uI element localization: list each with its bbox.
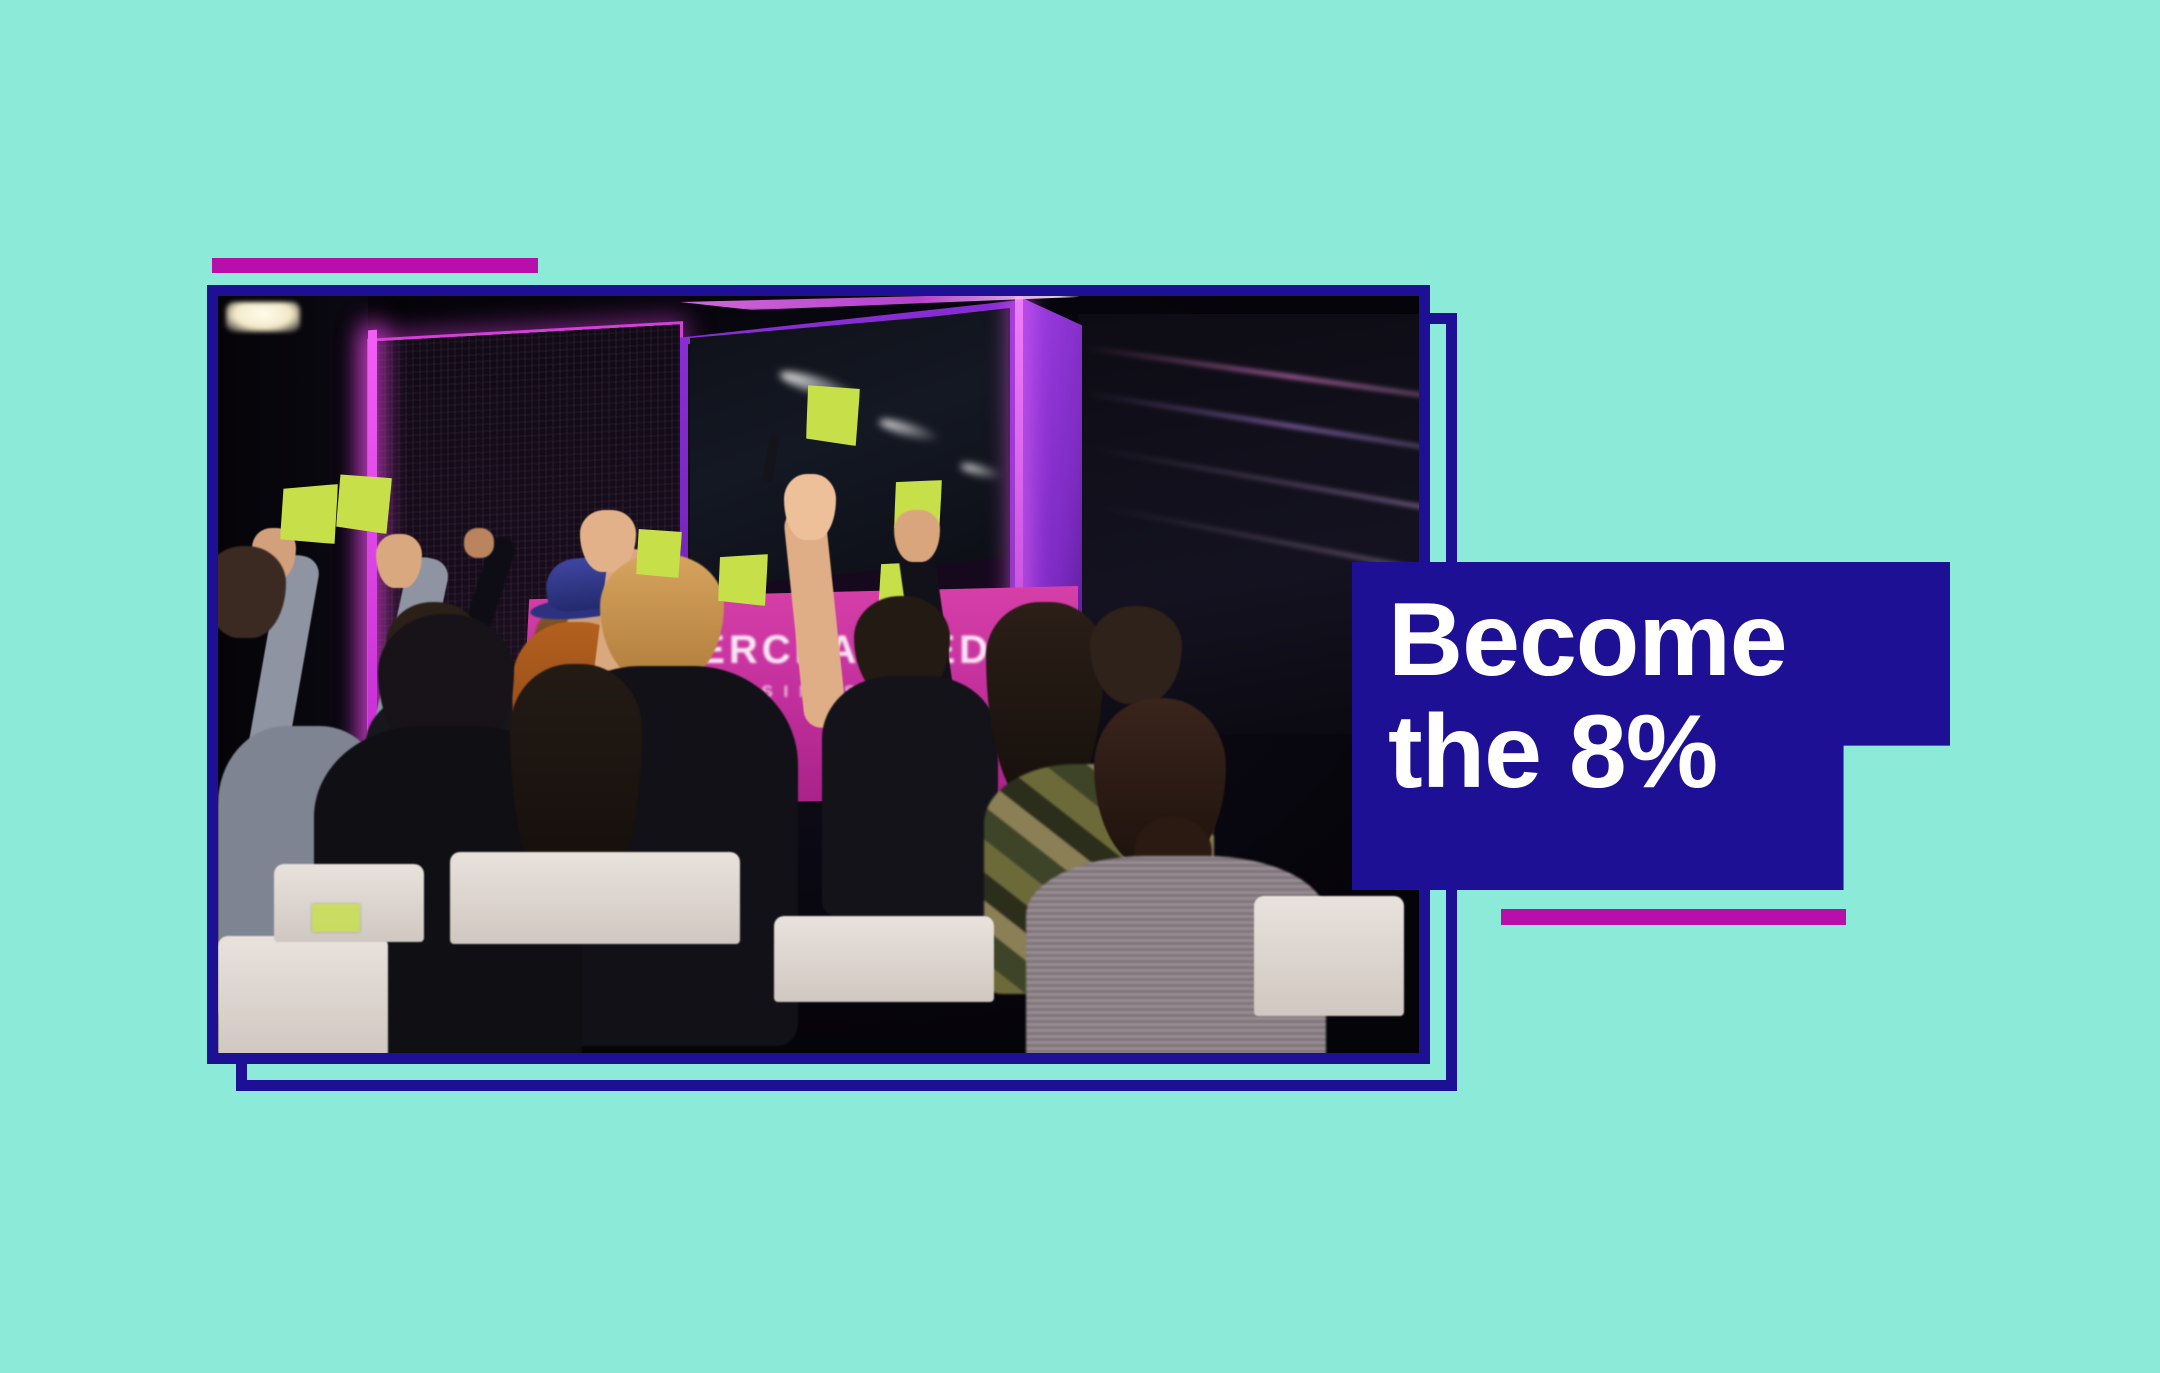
voting-card [280, 484, 338, 544]
audience-hand [894, 510, 940, 562]
voting-card-on-table [312, 904, 360, 932]
voting-card [636, 528, 682, 578]
headline-line-2: the 8% [1388, 696, 1918, 808]
chair [1254, 896, 1404, 1016]
audience-head [1090, 606, 1182, 704]
speaker-fist [464, 528, 494, 558]
headline: Become the 8% [1388, 584, 1918, 809]
poster-canvas: SUPERCHARGED B U S I N E S S [0, 0, 2160, 1373]
headline-line-1: Become [1388, 582, 1787, 698]
ceiling-lamp-glow [226, 302, 300, 332]
audience-torso [822, 676, 998, 916]
chair [218, 936, 388, 1053]
table-edge [450, 852, 740, 944]
stage-screen [690, 310, 1008, 590]
voting-card [336, 472, 392, 534]
headline-panel: Become the 8% [1352, 562, 1950, 890]
audience-hand [376, 534, 422, 588]
event-photo: SUPERCHARGED B U S I N E S S [207, 285, 1430, 1064]
photo-scene: SUPERCHARGED B U S I N E S S [218, 296, 1419, 1053]
accent-bar-bottom-right [1501, 909, 1846, 925]
voting-card [718, 554, 768, 606]
accent-bar-top-left [212, 258, 538, 273]
audience-hand [784, 474, 836, 540]
table-edge [774, 916, 994, 1002]
voting-card [806, 384, 860, 446]
